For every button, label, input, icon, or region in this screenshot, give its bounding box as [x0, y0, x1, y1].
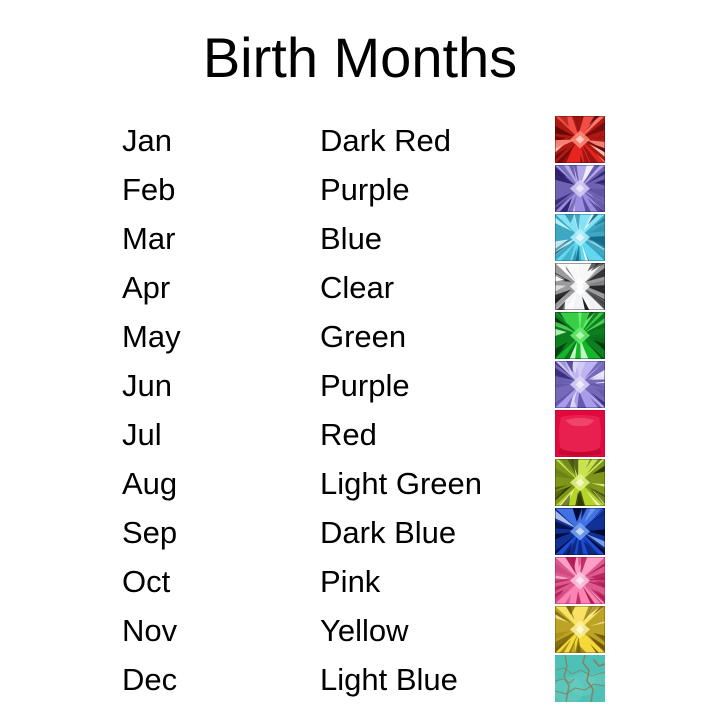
month-label: Jun: [122, 361, 172, 410]
peridot-gem-icon: [555, 459, 605, 506]
color-name-label: Purple: [320, 165, 410, 214]
turquoise-gem-icon: [555, 655, 605, 702]
table-row: DecLight Blue: [0, 655, 720, 704]
table-row: AugLight Green: [0, 459, 720, 508]
month-label: Jan: [122, 116, 172, 165]
color-name-label: Yellow: [320, 606, 408, 655]
month-label: Oct: [122, 557, 170, 606]
month-label: Aug: [122, 459, 177, 508]
color-name-label: Dark Blue: [320, 508, 456, 557]
color-name-label: Light Green: [320, 459, 482, 508]
color-name-label: Blue: [320, 214, 382, 263]
color-name-label: Green: [320, 312, 406, 361]
alexandrite-gem-icon: [555, 361, 605, 408]
color-name-label: Clear: [320, 263, 394, 312]
table-row: MayGreen: [0, 312, 720, 361]
birth-months-table: JanDark RedFebPurpleMarBlueAprClearMayGr…: [0, 116, 720, 704]
table-row: JunPurple: [0, 361, 720, 410]
citrine-gem-icon: [555, 606, 605, 653]
table-row: MarBlue: [0, 214, 720, 263]
month-label: Nov: [122, 606, 177, 655]
table-row: JanDark Red: [0, 116, 720, 165]
color-name-label: Dark Red: [320, 116, 451, 165]
color-name-label: Light Blue: [320, 655, 458, 704]
month-label: Jul: [122, 410, 162, 459]
tourmaline-gem-icon: [555, 557, 605, 604]
table-row: AprClear: [0, 263, 720, 312]
garnet-gem-icon: [555, 116, 605, 163]
month-label: Feb: [122, 165, 175, 214]
color-name-label: Pink: [320, 557, 380, 606]
month-label: Mar: [122, 214, 175, 263]
table-row: JulRed: [0, 410, 720, 459]
birth-months-page: Birth Months JanDark RedFebPurpleMarBlue…: [0, 0, 720, 720]
page-title: Birth Months: [0, 26, 720, 90]
color-name-label: Purple: [320, 361, 410, 410]
month-label: Sep: [122, 508, 177, 557]
emerald-gem-icon: [555, 312, 605, 359]
aquamarine-gem-icon: [555, 214, 605, 261]
month-label: Dec: [122, 655, 177, 704]
ruby-gem-icon: [555, 410, 605, 457]
table-row: FebPurple: [0, 165, 720, 214]
month-label: Apr: [122, 263, 170, 312]
amethyst-gem-icon: [555, 165, 605, 212]
table-row: SepDark Blue: [0, 508, 720, 557]
diamond-gem-icon: [555, 263, 605, 310]
month-label: May: [122, 312, 181, 361]
table-row: NovYellow: [0, 606, 720, 655]
table-row: OctPink: [0, 557, 720, 606]
sapphire-gem-icon: [555, 508, 605, 555]
color-name-label: Red: [320, 410, 377, 459]
